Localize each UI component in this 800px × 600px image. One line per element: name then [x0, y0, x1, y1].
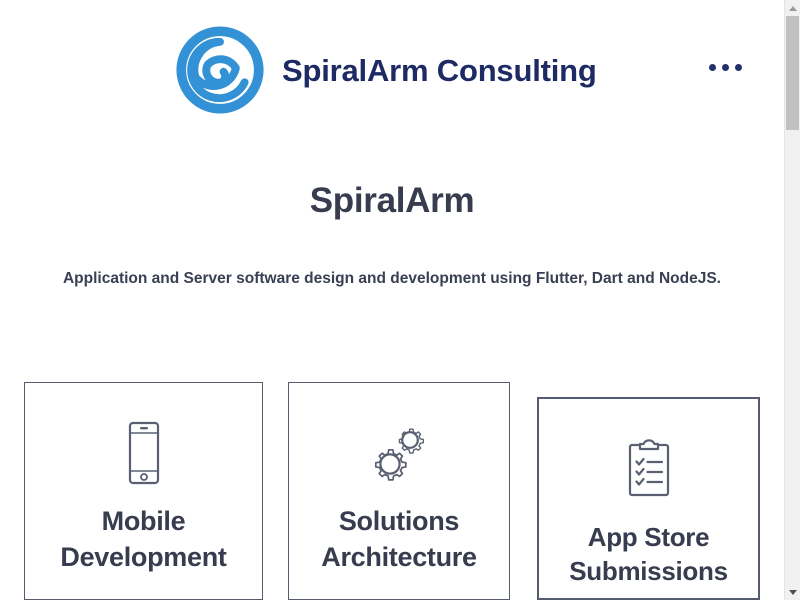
browser-viewport: SpiralArm Consulting SpiralArm Applicati… [0, 0, 800, 600]
more-horizontal-icon[interactable] [707, 58, 744, 77]
service-cards: Mobile Development Solutions Archi [0, 382, 784, 600]
brand-link[interactable]: SpiralArm Consulting [176, 26, 597, 114]
smartphone-icon [118, 420, 170, 486]
clipboard-checklist-icon [621, 436, 677, 502]
page-title: SpiralArm [0, 180, 784, 222]
service-card-app-store-submissions[interactable]: App Store Submissions [537, 397, 760, 600]
gears-icon [367, 420, 431, 486]
scroll-down-arrow-glyph [789, 590, 797, 595]
menu-dot-1 [709, 64, 716, 71]
hero-section: SpiralArm Application and Server softwar… [0, 180, 784, 290]
service-card-title: Solutions Architecture [289, 504, 509, 575]
service-card-title: Mobile Development [25, 504, 262, 575]
scrollbar-thumb[interactable] [786, 16, 799, 130]
menu-dot-3 [735, 64, 742, 71]
page-content: SpiralArm Consulting SpiralArm Applicati… [0, 0, 784, 600]
scroll-up-arrow-icon[interactable] [785, 0, 800, 16]
menu-dot-2 [722, 64, 729, 71]
vertical-scrollbar[interactable] [784, 0, 800, 600]
scroll-up-arrow-glyph [789, 6, 797, 11]
scroll-down-arrow-icon[interactable] [785, 584, 800, 600]
site-header: SpiralArm Consulting [0, 0, 784, 135]
spiral-logo-icon [176, 26, 264, 114]
hero-subtitle: Application and Server software design a… [57, 268, 727, 290]
service-card-solutions-architecture[interactable]: Solutions Architecture [288, 382, 510, 600]
brand-name: SpiralArm Consulting [282, 55, 597, 86]
service-card-title: App Store Submissions [539, 520, 758, 589]
service-card-mobile-development[interactable]: Mobile Development [24, 382, 263, 600]
